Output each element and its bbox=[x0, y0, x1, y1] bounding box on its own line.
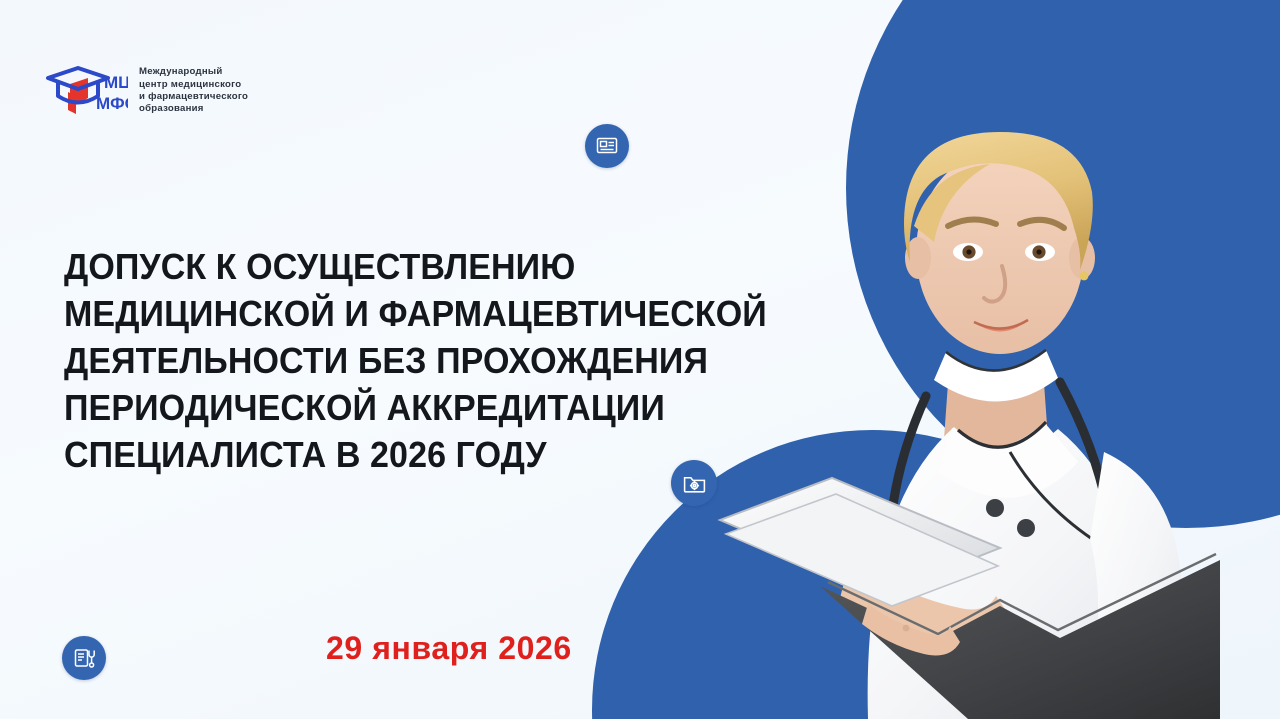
headline-line-4: ПЕРИОДИЧЕСКОЙ АККРЕДИТАЦИИ bbox=[64, 384, 726, 431]
clipboard-tools-icon bbox=[72, 646, 96, 670]
headline-line-5: СПЕЦИАЛИСТА В 2026 ГОДУ bbox=[64, 431, 726, 478]
organization-name: Международный центр медицинского и фарма… bbox=[139, 66, 248, 116]
certificate-document-icon-badge[interactable] bbox=[585, 124, 629, 168]
folder-gear-icon-badge[interactable] bbox=[671, 460, 717, 506]
logo-abbr-line1: МЦ bbox=[104, 73, 128, 92]
clipboard-tools-icon-badge[interactable] bbox=[62, 636, 106, 680]
headline-line-2: МЕДИЦИНСКОЙ И ФАРМАЦЕВТИЧЕСКОЙ bbox=[64, 290, 726, 337]
page-title: ДОПУСК К ОСУЩЕСТВЛЕНИЮ МЕДИЦИНСКОЙ И ФАР… bbox=[64, 243, 726, 478]
graduation-cap-logo-mark: МЦ МФО bbox=[44, 62, 128, 120]
certificate-document-icon bbox=[595, 134, 619, 158]
headline-line-3: ДЕЯТЕЛЬНОСТИ БЕЗ ПРОХОЖДЕНИЯ bbox=[64, 337, 726, 384]
logo-abbr-line2: МФО bbox=[96, 94, 128, 113]
event-date: 29 января 2026 bbox=[326, 630, 572, 667]
headline-line-1: ДОПУСК К ОСУЩЕСТВЛЕНИЮ bbox=[64, 243, 726, 290]
organization-logo[interactable]: МЦ МФО Международный центр медицинского … bbox=[44, 62, 248, 120]
female-doctor-illustration bbox=[700, 0, 1280, 719]
folder-gear-icon bbox=[682, 471, 707, 496]
presentation-slide: МЦ МФО Международный центр медицинского … bbox=[0, 0, 1280, 719]
